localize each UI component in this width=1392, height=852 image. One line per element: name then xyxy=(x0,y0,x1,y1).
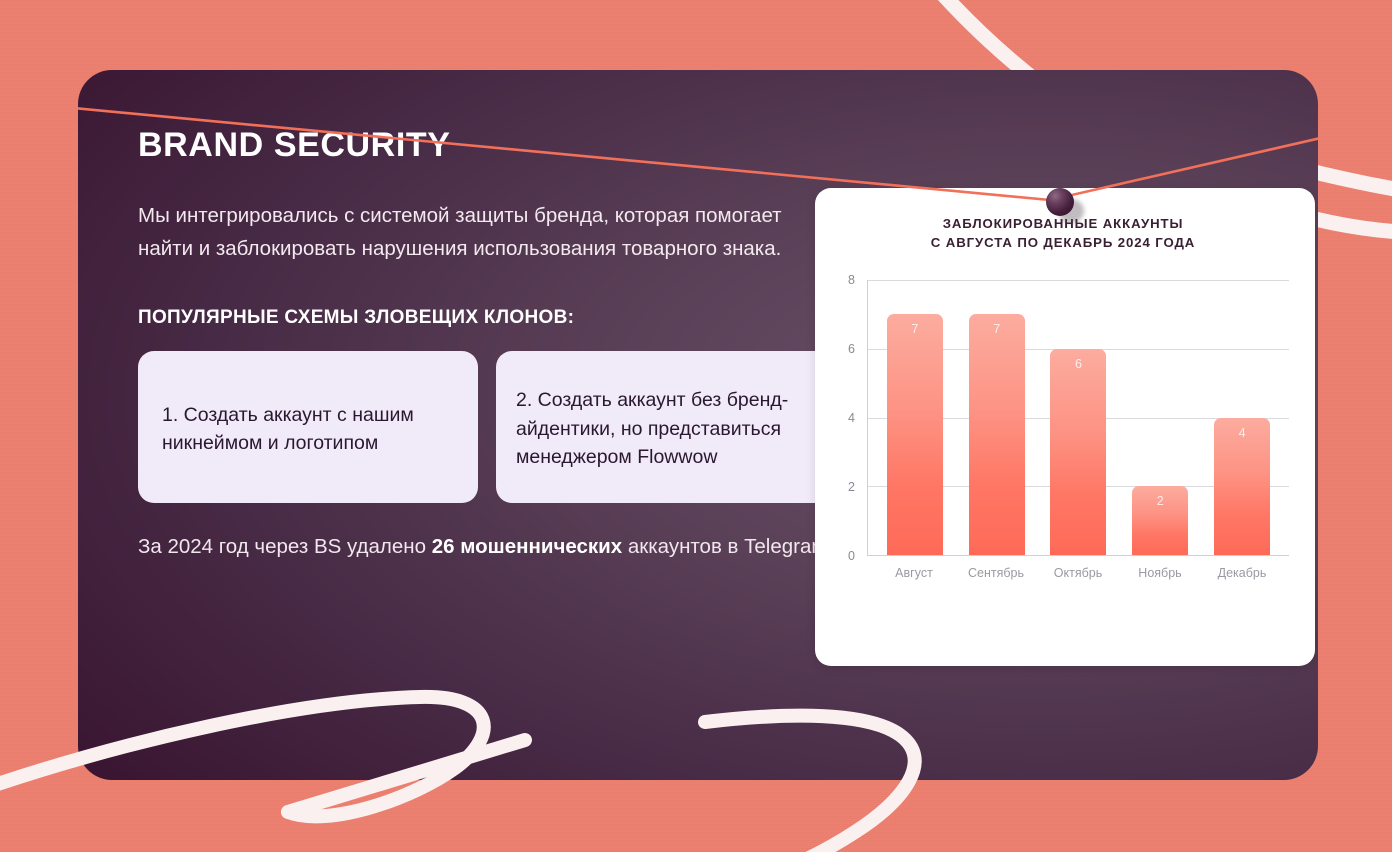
footnote-suffix: аккаунтов в Telegram xyxy=(622,535,828,558)
scheme-card-2: 2. Создать аккаунт без бренд-айдентики, … xyxy=(496,351,836,503)
x-label-Сентябрь: Сентябрь xyxy=(959,566,1033,580)
bar-value-label: 2 xyxy=(1132,494,1188,508)
bar-value-label: 7 xyxy=(887,322,943,336)
chart-title-line-2: С АВГУСТА ПО ДЕКАБРЬ 2024 ГОДА xyxy=(833,233,1293,252)
bar-value-label: 6 xyxy=(1050,357,1106,371)
scheme-card-1: 1. Создать аккаунт с нашим никнеймом и л… xyxy=(138,351,478,503)
bar-Ноябрь[interactable]: 2 xyxy=(1132,486,1188,555)
bar-slot-3: 6 xyxy=(1042,280,1116,555)
x-label-Август: Август xyxy=(877,566,951,580)
x-label-Октябрь: Октябрь xyxy=(1041,566,1115,580)
pin-sphere-icon xyxy=(1046,188,1074,216)
footnote-text: За 2024 год через BS удалено 26 мошеннич… xyxy=(138,531,838,562)
brand-security-card: BRAND SECURITY Мы интегрировались с сист… xyxy=(78,70,1318,780)
footnote-prefix: За 2024 год через BS удалено xyxy=(138,535,432,558)
slide-canvas: BRAND SECURITY Мы интегрировались с сист… xyxy=(0,0,1392,852)
bar-value-label: 4 xyxy=(1214,426,1270,440)
chart-panel: ЗАБЛОКИРОВАННЫЕ АККАУНТЫ С АВГУСТА ПО ДЕ… xyxy=(815,188,1315,666)
bar-slot-1: 7 xyxy=(878,280,952,555)
x-label-Ноябрь: Ноябрь xyxy=(1123,566,1197,580)
bar-slot-4: 2 xyxy=(1123,280,1197,555)
bar-value-label: 7 xyxy=(969,322,1025,336)
y-tick-0: 0 xyxy=(848,549,855,563)
bar-Сентябрь[interactable]: 7 xyxy=(969,314,1025,555)
bar-series: 77624 xyxy=(868,280,1289,555)
y-tick-2: 2 xyxy=(848,480,855,494)
page-title: BRAND SECURITY xyxy=(138,126,1318,165)
chart-plot-area: 8 6 4 2 0 77624 АвгустСентябрьОктябрьНоя… xyxy=(833,280,1293,610)
plot-frame: 77624 xyxy=(867,280,1289,556)
y-axis: 8 6 4 2 0 xyxy=(833,280,863,556)
x-label-Декабрь: Декабрь xyxy=(1205,566,1279,580)
y-tick-8: 8 xyxy=(848,273,855,287)
x-axis-labels: АвгустСентябрьОктябрьНоябрьДекабрь xyxy=(867,566,1289,580)
y-tick-6: 6 xyxy=(848,342,855,356)
bar-slot-5: 4 xyxy=(1205,280,1279,555)
bar-Август[interactable]: 7 xyxy=(887,314,943,555)
footnote-highlight: 26 мошеннических xyxy=(432,535,622,558)
bar-slot-2: 7 xyxy=(960,280,1034,555)
y-tick-4: 4 xyxy=(848,411,855,425)
bar-Декабрь[interactable]: 4 xyxy=(1214,418,1270,556)
scheme-card-1-text: 1. Создать аккаунт с нашим никнеймом и л… xyxy=(162,401,460,458)
bar-Октябрь[interactable]: 6 xyxy=(1050,349,1106,555)
intro-paragraph: Мы интегрировались с системой защиты бре… xyxy=(138,199,828,265)
scheme-card-2-text: 2. Создать аккаунт без бренд-айдентики, … xyxy=(516,386,818,472)
